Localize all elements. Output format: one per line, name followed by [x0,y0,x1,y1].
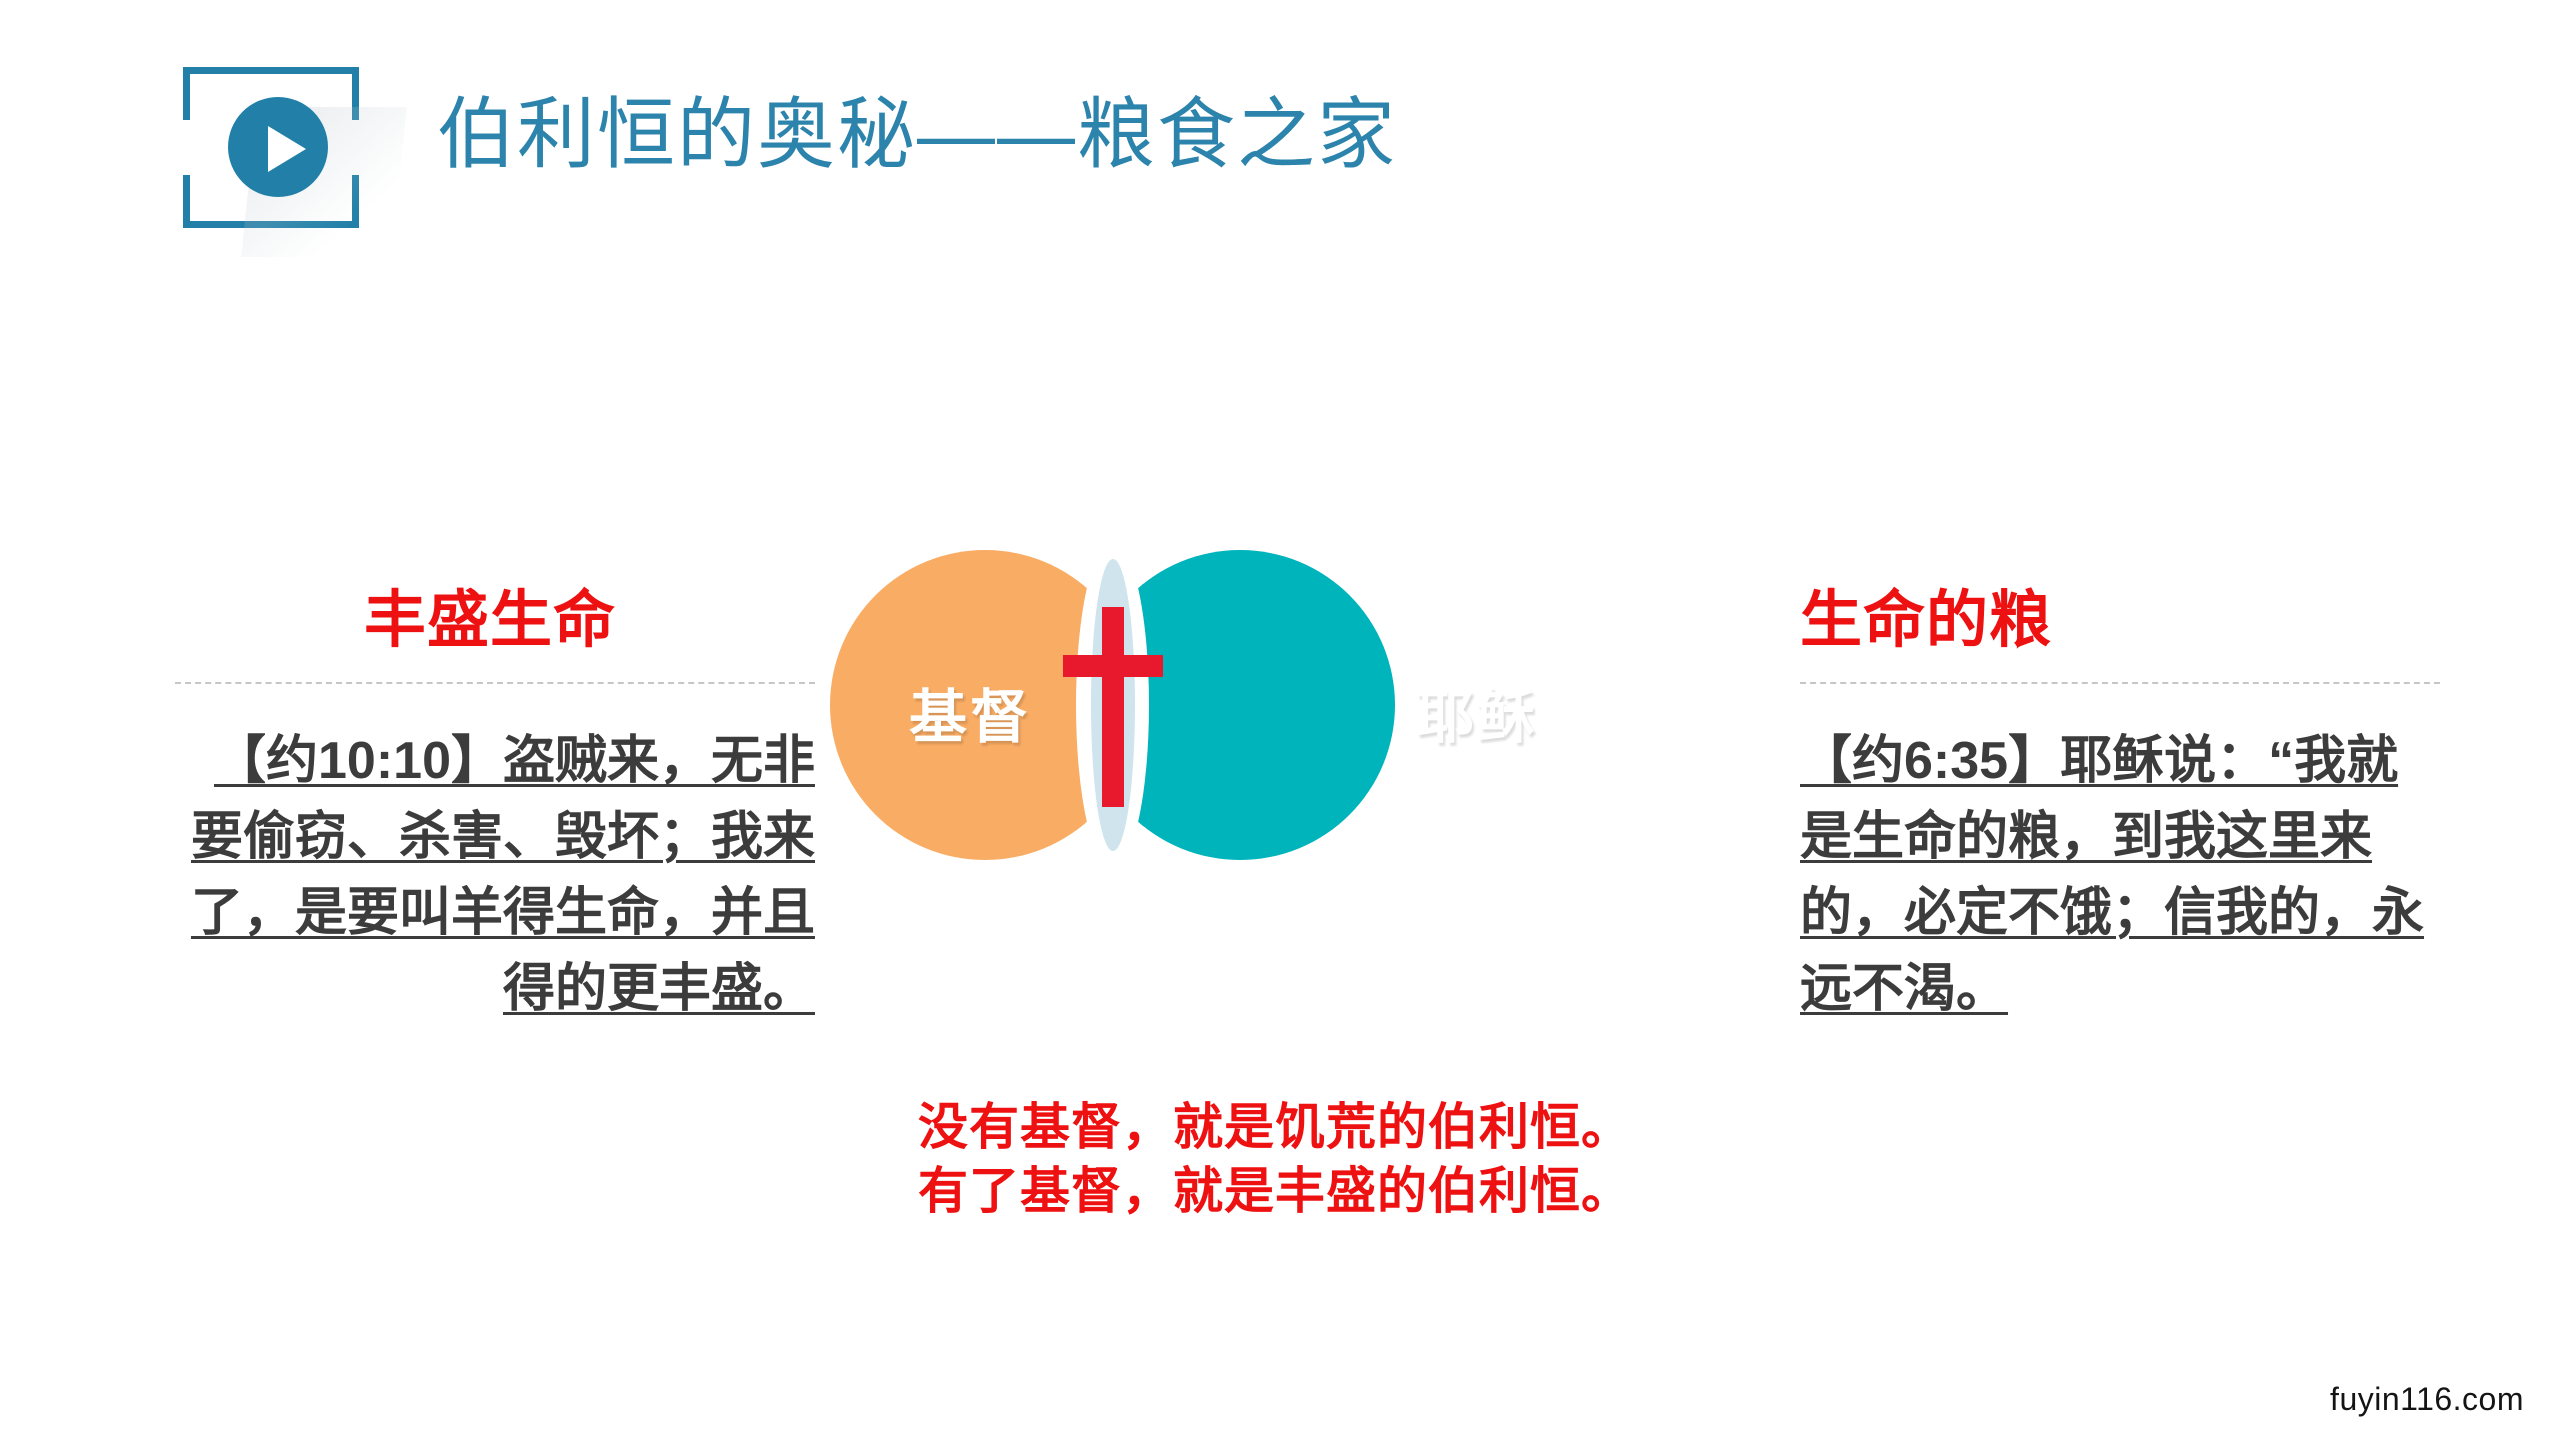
venn-caption-line-2: 有了基督，就是丰盛的伯利恒。 [820,1159,1730,1223]
venn-caption: 没有基督，就是饥荒的伯利恒。 有了基督，就是丰盛的伯利恒。 [820,1095,1730,1223]
left-column-divider [175,682,815,684]
venn-label-christ: 基督 [860,670,1080,754]
frame-segment-left-lower [183,175,190,228]
left-column-scripture: 【约10:10】盗贼来，无非要偷窃、杀害、毁坏；我来了，是要叫羊得生命，并且得的… [175,724,815,1028]
venn-caption-line-1: 没有基督，就是饥荒的伯利恒。 [820,1095,1730,1159]
page-title: 伯利恒的奥秘——粮食之家 [437,88,1397,180]
venn-label-jesus: 耶稣 [1367,670,1587,754]
frame-segment-left-upper [183,67,190,120]
venn-intersection [1085,545,1140,865]
venn-diagram: 基督 耶稣 [830,550,1710,880]
frame-segment-right-upper [352,67,359,120]
play-circle [228,97,328,197]
right-column-heading: 生命的粮 [1800,590,2440,668]
cross-icon-vertical [1102,607,1124,807]
frame-segment-right-lower [352,175,359,228]
play-button-in-frame-icon [175,45,380,250]
left-column-heading: 丰盛生命 [175,590,815,668]
left-column: 丰盛生命 【约10:10】盗贼来，无非要偷窃、杀害、毁坏；我来了，是要叫羊得生命… [175,590,815,1028]
frame-segment-top [183,67,359,74]
slide-header: 伯利恒的奥秘——粮食之家 [0,0,2560,230]
site-watermark: fuyin116.com [2330,1381,2524,1418]
frame-segment-bottom [183,221,359,228]
right-column-divider [1800,682,2440,684]
right-column: 生命的粮 【约6:35】耶稣说：“我就是生命的粮，到我这里来的，必定不饿；信我的… [1800,590,2440,1028]
right-column-scripture: 【约6:35】耶稣说：“我就是生命的粮，到我这里来的，必定不饿；信我的，永远不渴… [1800,724,2440,1028]
play-triangle-icon [268,126,306,172]
